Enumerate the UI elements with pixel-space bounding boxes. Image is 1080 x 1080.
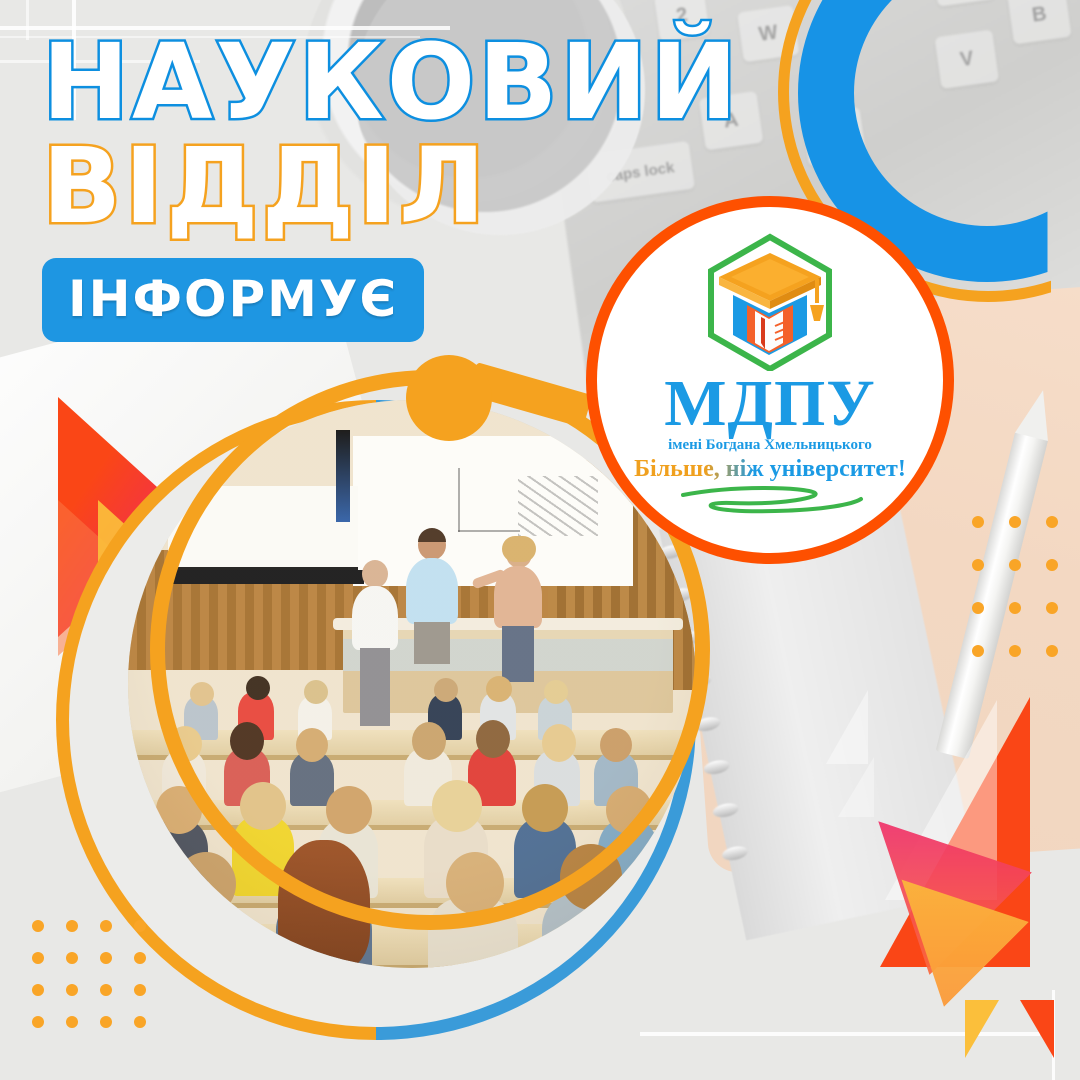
- headline-block: НАУКОВИЙ ВІДДІЛ ІНФОРМУЄ: [42, 34, 740, 342]
- decor-dot: [134, 1016, 146, 1028]
- orange-pin-dot: [406, 355, 492, 441]
- triangle-right-ghost-b: [838, 757, 874, 817]
- logo-subtitle: імені Богдана Хмельницького: [668, 437, 872, 454]
- decor-dot: [32, 1016, 44, 1028]
- triangle-right-clip-yellow-bottom: [965, 1000, 999, 1058]
- decor-dot: [1046, 559, 1058, 571]
- decor-grid-line: [26, 0, 29, 40]
- decor-dot: [134, 984, 146, 996]
- decor-dot: [66, 920, 78, 932]
- logo-acronym: МДПУ: [664, 373, 875, 436]
- headline-line-1: НАУКОВИЙ: [42, 34, 740, 132]
- logo-slogan: Більше, ніж університет!: [634, 456, 906, 483]
- photo-warm-overlay: [128, 400, 696, 968]
- informs-badge: ІНФОРМУЄ: [42, 258, 424, 342]
- decor-dot: [972, 645, 984, 657]
- decor-dot: [100, 920, 112, 932]
- decor-dot: [972, 559, 984, 571]
- decor-dot: [66, 952, 78, 964]
- decor-dot: [32, 984, 44, 996]
- decor-dot: [1046, 645, 1058, 657]
- decor-dot: [1009, 602, 1021, 614]
- triangle-right-ghost-a: [826, 690, 868, 764]
- decor-dot: [972, 516, 984, 528]
- decor-dot: [1009, 516, 1021, 528]
- decor-dot: [1046, 516, 1058, 528]
- lecture-hall-scene: [128, 400, 696, 968]
- poster-canvas: esc 2 W A Z caps lock G V B R: [0, 0, 1080, 1080]
- decor-dot: [100, 984, 112, 996]
- decor-dot: [66, 984, 78, 996]
- green-scribble-underline-icon: [665, 481, 875, 521]
- lecture-hall-photo: [128, 400, 696, 968]
- decor-dot: [100, 952, 112, 964]
- decor-dot: [1009, 645, 1021, 657]
- dot-grid-right: [972, 516, 1080, 688]
- decor-dot: [66, 1016, 78, 1028]
- informs-badge-label: ІНФОРМУЄ: [68, 270, 398, 328]
- decor-dot: [32, 920, 44, 932]
- triangle-right-clip-orange-bottom: [1020, 1000, 1054, 1058]
- decor-dot: [1009, 559, 1021, 571]
- decor-dot: [1046, 602, 1058, 614]
- decor-dot: [972, 602, 984, 614]
- decor-dot: [32, 952, 44, 964]
- headline-line-2: ВІДДІЛ: [42, 138, 740, 236]
- decor-dot: [100, 1016, 112, 1028]
